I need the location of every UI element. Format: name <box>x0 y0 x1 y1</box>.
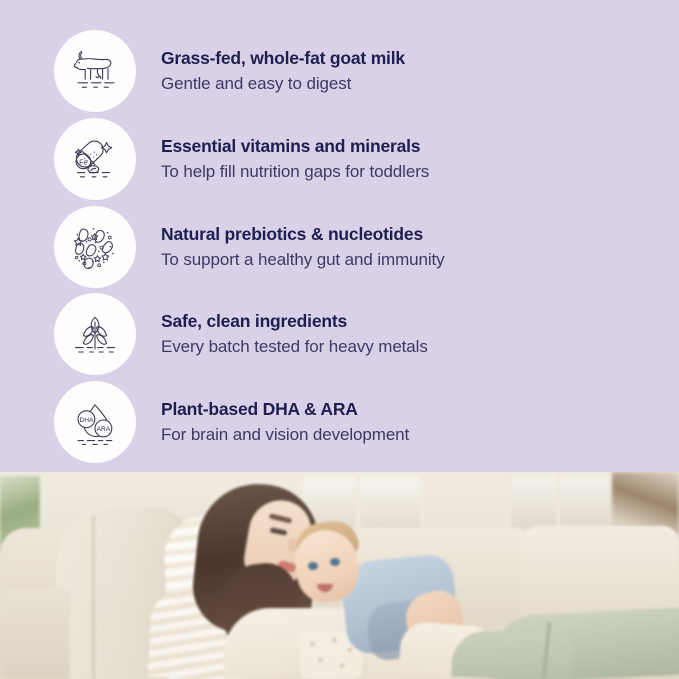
feature-title: Natural prebiotics & nucleotides <box>161 224 445 246</box>
feature-subtitle: Every batch tested for heavy metals <box>161 336 428 357</box>
lifestyle-photo <box>0 472 679 679</box>
vitamin-capsule-iron-icon: Fe <box>66 130 124 188</box>
feature-item-dha-ara: DHA ARA Plant-based DHA & ARA For brain … <box>54 380 654 464</box>
sofa-arm-left <box>0 588 70 679</box>
feature-text-block: Grass-fed, whole-fat goat milk Gentle an… <box>161 48 405 94</box>
feature-subtitle: For brain and vision development <box>161 424 409 445</box>
window-right-mullion <box>556 474 560 532</box>
product-feature-panel: Grass-fed, whole-fat goat milk Gentle an… <box>0 0 679 679</box>
wheat-stalk-icon <box>66 305 124 363</box>
feature-item-safe-clean-ingredients: Safe, clean ingredients Every batch test… <box>54 292 654 376</box>
feature-subtitle: To support a healthy gut and immunity <box>161 249 445 270</box>
window-center-mullion <box>356 474 360 536</box>
probiotic-bacteria-icon-badge <box>54 206 136 288</box>
feature-title: Essential vitamins and minerals <box>161 136 429 158</box>
feature-title: Safe, clean ingredients <box>161 311 428 333</box>
sage-blanket-fold <box>451 630 573 679</box>
toddler-eye-left <box>308 562 318 570</box>
feature-item-goat-milk: Grass-fed, whole-fat goat milk Gentle an… <box>54 29 654 113</box>
sofa-wing-seam <box>92 516 95 679</box>
goat-icon <box>66 42 124 100</box>
feature-text-block: Plant-based DHA & ARA For brain and visi… <box>161 399 409 445</box>
feature-subtitle: To help fill nutrition gaps for toddlers <box>161 161 429 182</box>
dha-ara-droplet-icon-badge: DHA ARA <box>54 381 136 463</box>
photo-scene <box>0 472 679 679</box>
toddler-eye-right <box>330 558 340 566</box>
goat-icon-badge <box>54 30 136 112</box>
sofa-cushion-right <box>520 526 679 612</box>
feature-item-prebiotics-nucleotides: Natural prebiotics & nucleotides To supp… <box>54 205 654 289</box>
feature-text-block: Essential vitamins and minerals To help … <box>161 136 429 182</box>
dha-ara-droplet-icon: DHA ARA <box>66 393 124 451</box>
feature-text-block: Safe, clean ingredients Every batch test… <box>161 311 428 357</box>
feature-title: Plant-based DHA & ARA <box>161 399 409 421</box>
svg-text:Fe: Fe <box>79 157 88 166</box>
vitamin-capsule-iron-icon-badge: Fe <box>54 118 136 200</box>
feature-subtitle: Gentle and easy to digest <box>161 73 405 94</box>
ara-label: ARA <box>97 426 111 433</box>
feature-title: Grass-fed, whole-fat goat milk <box>161 48 405 70</box>
feature-text-block: Natural prebiotics & nucleotides To supp… <box>161 224 445 270</box>
feature-item-vitamins-minerals: Fe Essential vitamins and minerals To he… <box>54 117 654 201</box>
wheat-stalk-icon-badge <box>54 293 136 375</box>
feature-list: Grass-fed, whole-fat goat milk Gentle an… <box>0 0 679 472</box>
probiotic-bacteria-icon <box>65 217 125 277</box>
dha-label: DHA <box>79 417 94 424</box>
